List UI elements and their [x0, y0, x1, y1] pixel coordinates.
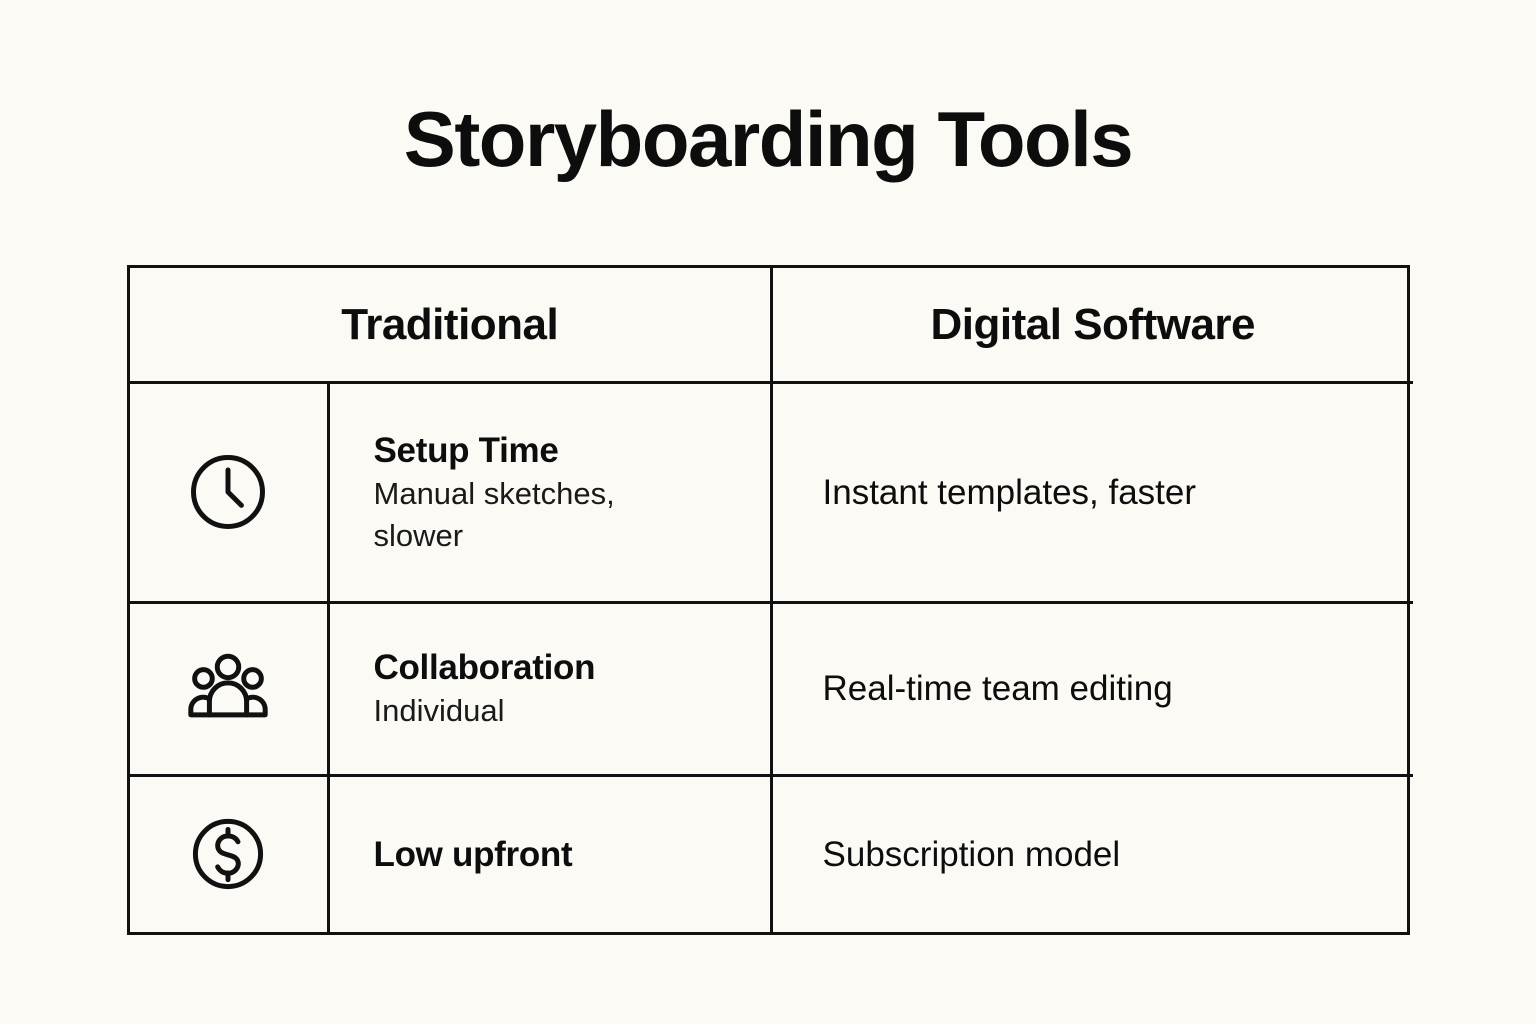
feature-subtitle: Individual [374, 690, 704, 732]
feature-title: Collaboration [374, 646, 770, 690]
page-title: Storyboarding Tools [0, 96, 1536, 182]
row-icon-cell [130, 383, 328, 603]
digital-value: Real-time team editing [823, 666, 1414, 712]
people-group-icon [178, 639, 278, 739]
digital-cell: Real-time team editing [771, 603, 1413, 776]
digital-value: Subscription model [823, 832, 1414, 878]
row-icon-cell [130, 603, 328, 776]
slide-canvas: Storyboarding Tools Traditional Digital … [0, 0, 1536, 1024]
column-header-digital-label: Digital Software [773, 300, 1414, 350]
table-header-row: Traditional Digital Software [130, 268, 1413, 383]
clock-icon [178, 442, 278, 542]
table-row: Collaboration Individual Real-time team … [130, 603, 1413, 776]
feature-title: Setup Time [374, 429, 770, 473]
digital-value: Instant templates, faster [823, 470, 1414, 516]
table-row: Low upfront Subscription model [130, 776, 1413, 933]
column-header-traditional-label: Traditional [130, 300, 770, 350]
digital-cell: Instant templates, faster [771, 383, 1413, 603]
feature-cell: Low upfront [328, 776, 771, 933]
feature-title: Low upfront [374, 833, 770, 877]
dollar-circle-icon [178, 804, 278, 904]
table-row: Setup Time Manual sketches, slower Insta… [130, 383, 1413, 603]
comparison-table: Traditional Digital Software [127, 265, 1410, 935]
feature-cell: Setup Time Manual sketches, slower [328, 383, 771, 603]
digital-cell: Subscription model [771, 776, 1413, 933]
row-icon-cell [130, 776, 328, 933]
column-header-digital: Digital Software [771, 268, 1413, 383]
feature-cell: Collaboration Individual [328, 603, 771, 776]
feature-subtitle: Manual sketches, slower [374, 473, 704, 557]
column-header-traditional: Traditional [130, 268, 771, 383]
